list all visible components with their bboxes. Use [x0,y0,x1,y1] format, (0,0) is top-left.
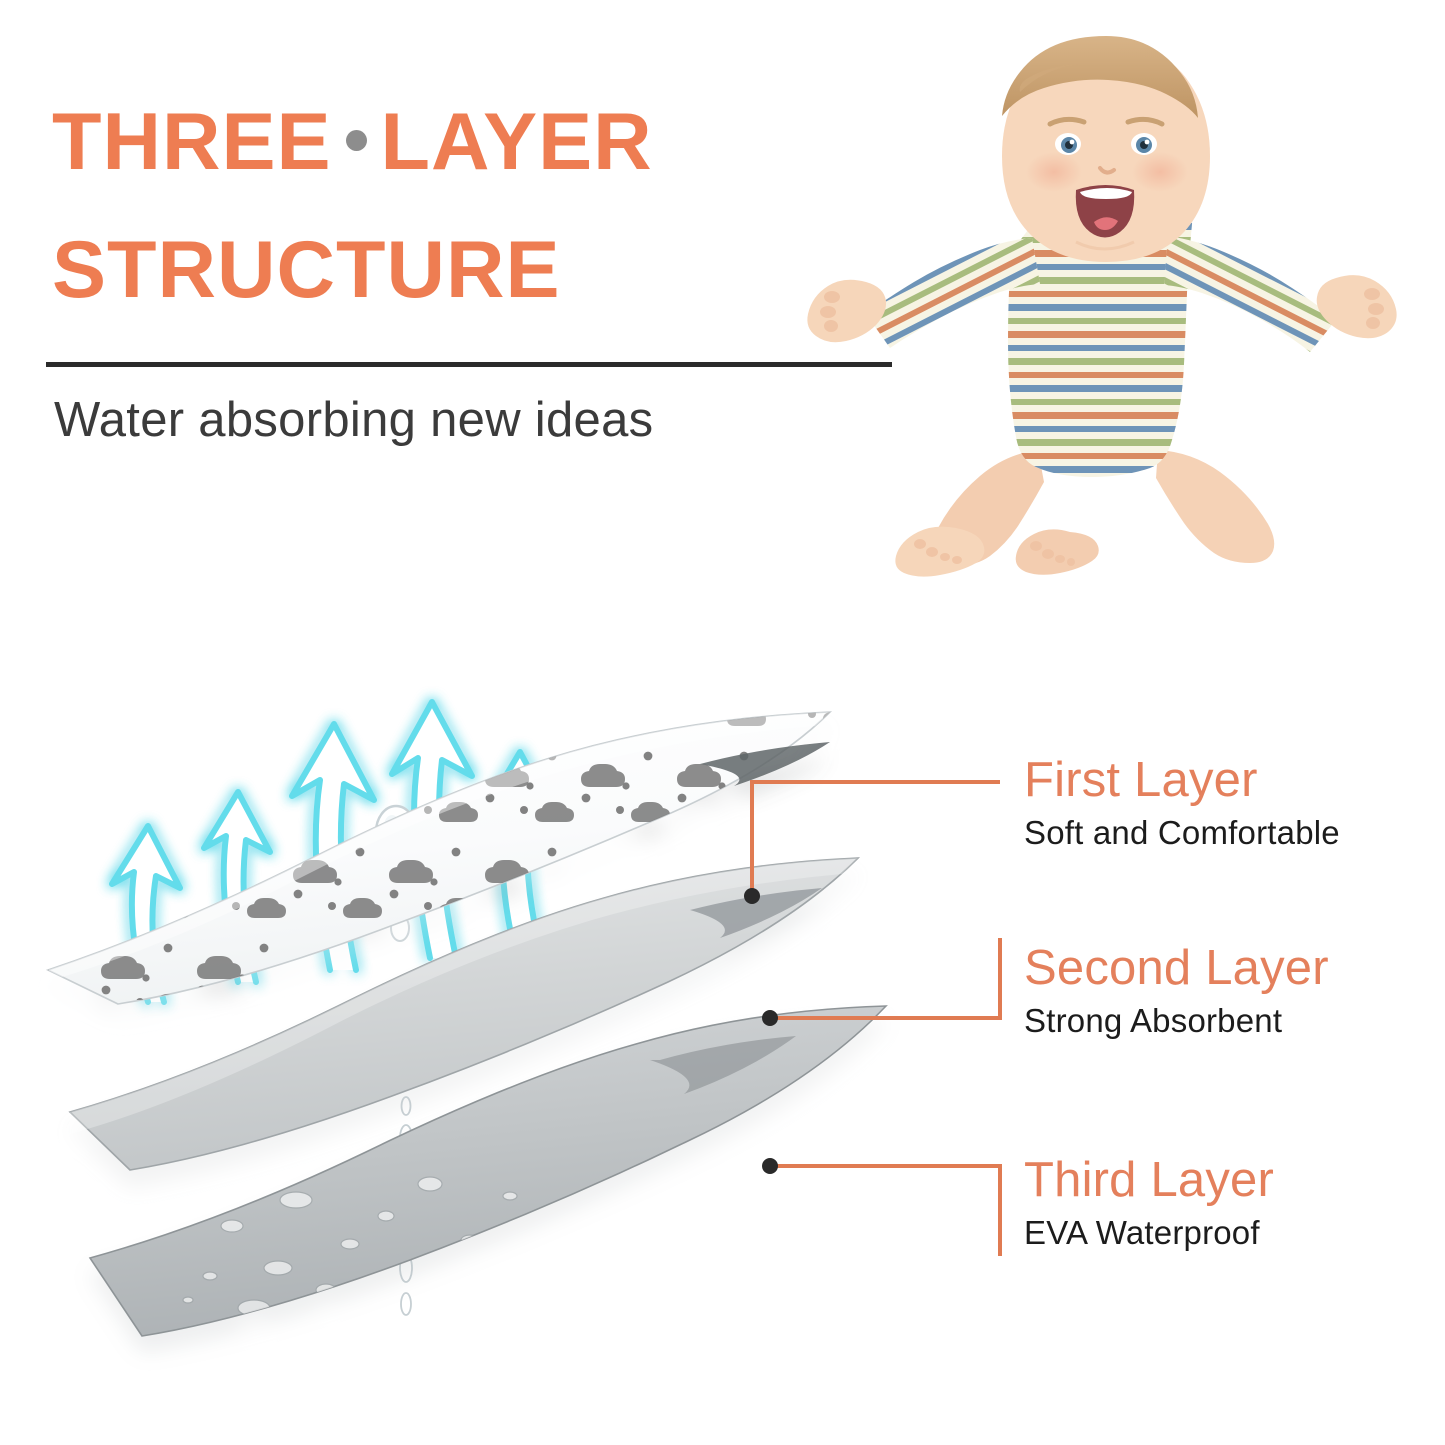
third-layer-subtitle: EVA Waterproof [1024,1212,1274,1254]
connector-second-layer [770,938,1000,1018]
second-layer-title: Second Layer [1024,940,1329,996]
callout-second-layer-label: Second Layer Strong Absorbent [1024,940,1329,1042]
connector-first-layer [752,782,1000,896]
title-word-layer: LAYER [381,97,653,187]
title-divider [46,362,892,367]
callout-anchor-dots [744,888,778,1174]
baby-photo [770,20,1430,590]
connector-third-layer [770,1166,1000,1256]
title-word-three: THREE [52,97,332,187]
callout-first-layer-label: First Layer Soft and Comfortable [1024,752,1340,854]
baby-head [1002,36,1210,262]
third-layer-title: Third Layer [1024,1152,1274,1208]
dot-separator-icon [346,130,367,151]
callout-connectors [700,700,1060,1280]
callout-third-layer-label: Third Layer EVA Waterproof [1024,1152,1274,1254]
infographic-canvas: THREELAYER STRUCTURE Water absorbing new… [0,0,1445,1445]
page-subtitle: Water absorbing new ideas [54,392,653,448]
first-layer-title: First Layer [1024,752,1340,808]
first-layer-subtitle: Soft and Comfortable [1024,812,1340,854]
second-layer-subtitle: Strong Absorbent [1024,1000,1329,1042]
